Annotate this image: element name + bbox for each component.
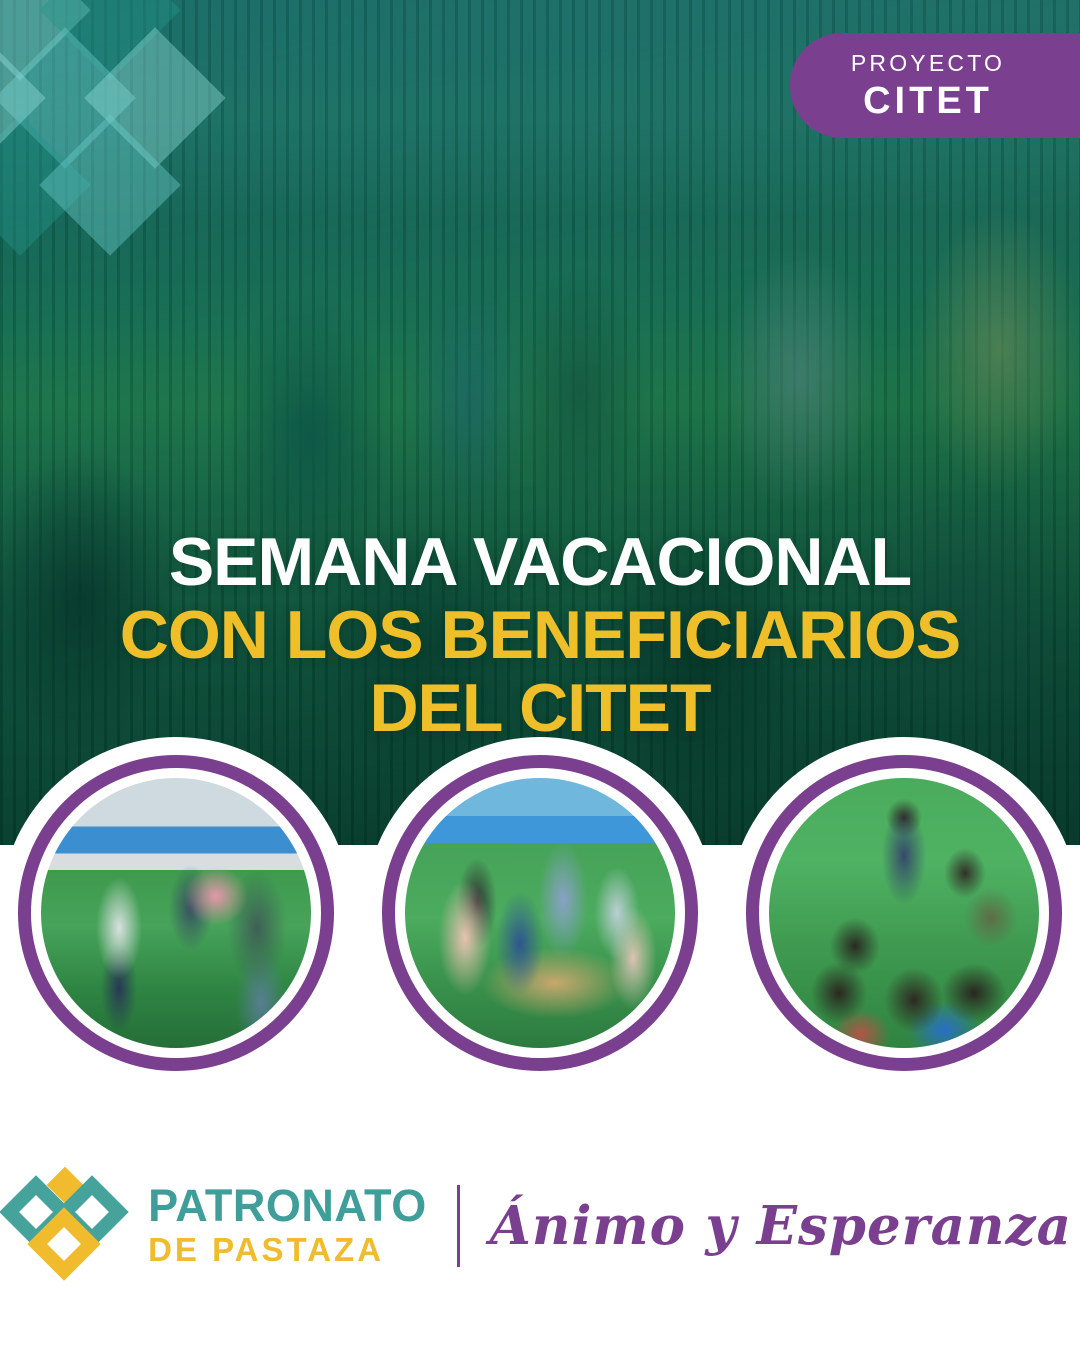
patronato-wordmark: PATRONATO DE PASTAZA: [148, 1183, 427, 1268]
headline-line-3: DEL CITET: [0, 674, 1080, 742]
badge-title: CITET: [863, 82, 993, 120]
footer-divider: [457, 1185, 460, 1267]
photo-activity-table: [405, 778, 675, 1048]
logo-text-de-pastaza: DE PASTAZA: [148, 1232, 427, 1268]
photo-gallery: [0, 737, 1080, 1137]
headline-line-2: CON LOS BENEFICIARIOS: [0, 601, 1080, 669]
badge-kicker: PROYECTO: [851, 52, 1005, 75]
gallery-item-2: [364, 737, 716, 1115]
headline-line-1: SEMANA VACACIONAL: [0, 528, 1080, 596]
logo-text-patronato: PATRONATO: [148, 1183, 427, 1228]
footer-tagline: Ánimo y Esperanza: [490, 1195, 1072, 1257]
photo-group-circle: [769, 778, 1039, 1048]
photo-kids-basket-relay: [41, 778, 311, 1048]
poster-root: PROYECTO CITET SEMANA VACACIONAL CON LOS…: [0, 0, 1080, 1350]
proyecto-citet-badge: PROYECTO CITET: [790, 33, 1080, 138]
gallery-item-3: [728, 737, 1080, 1115]
gallery-item-1: [0, 737, 352, 1115]
patronato-heart-diamond-logo-icon: [8, 1174, 128, 1278]
headline-block: SEMANA VACACIONAL CON LOS BENEFICIARIOS …: [0, 528, 1080, 742]
footer-branding: PATRONATO DE PASTAZA Ánimo y Esperanza: [0, 1174, 1080, 1278]
